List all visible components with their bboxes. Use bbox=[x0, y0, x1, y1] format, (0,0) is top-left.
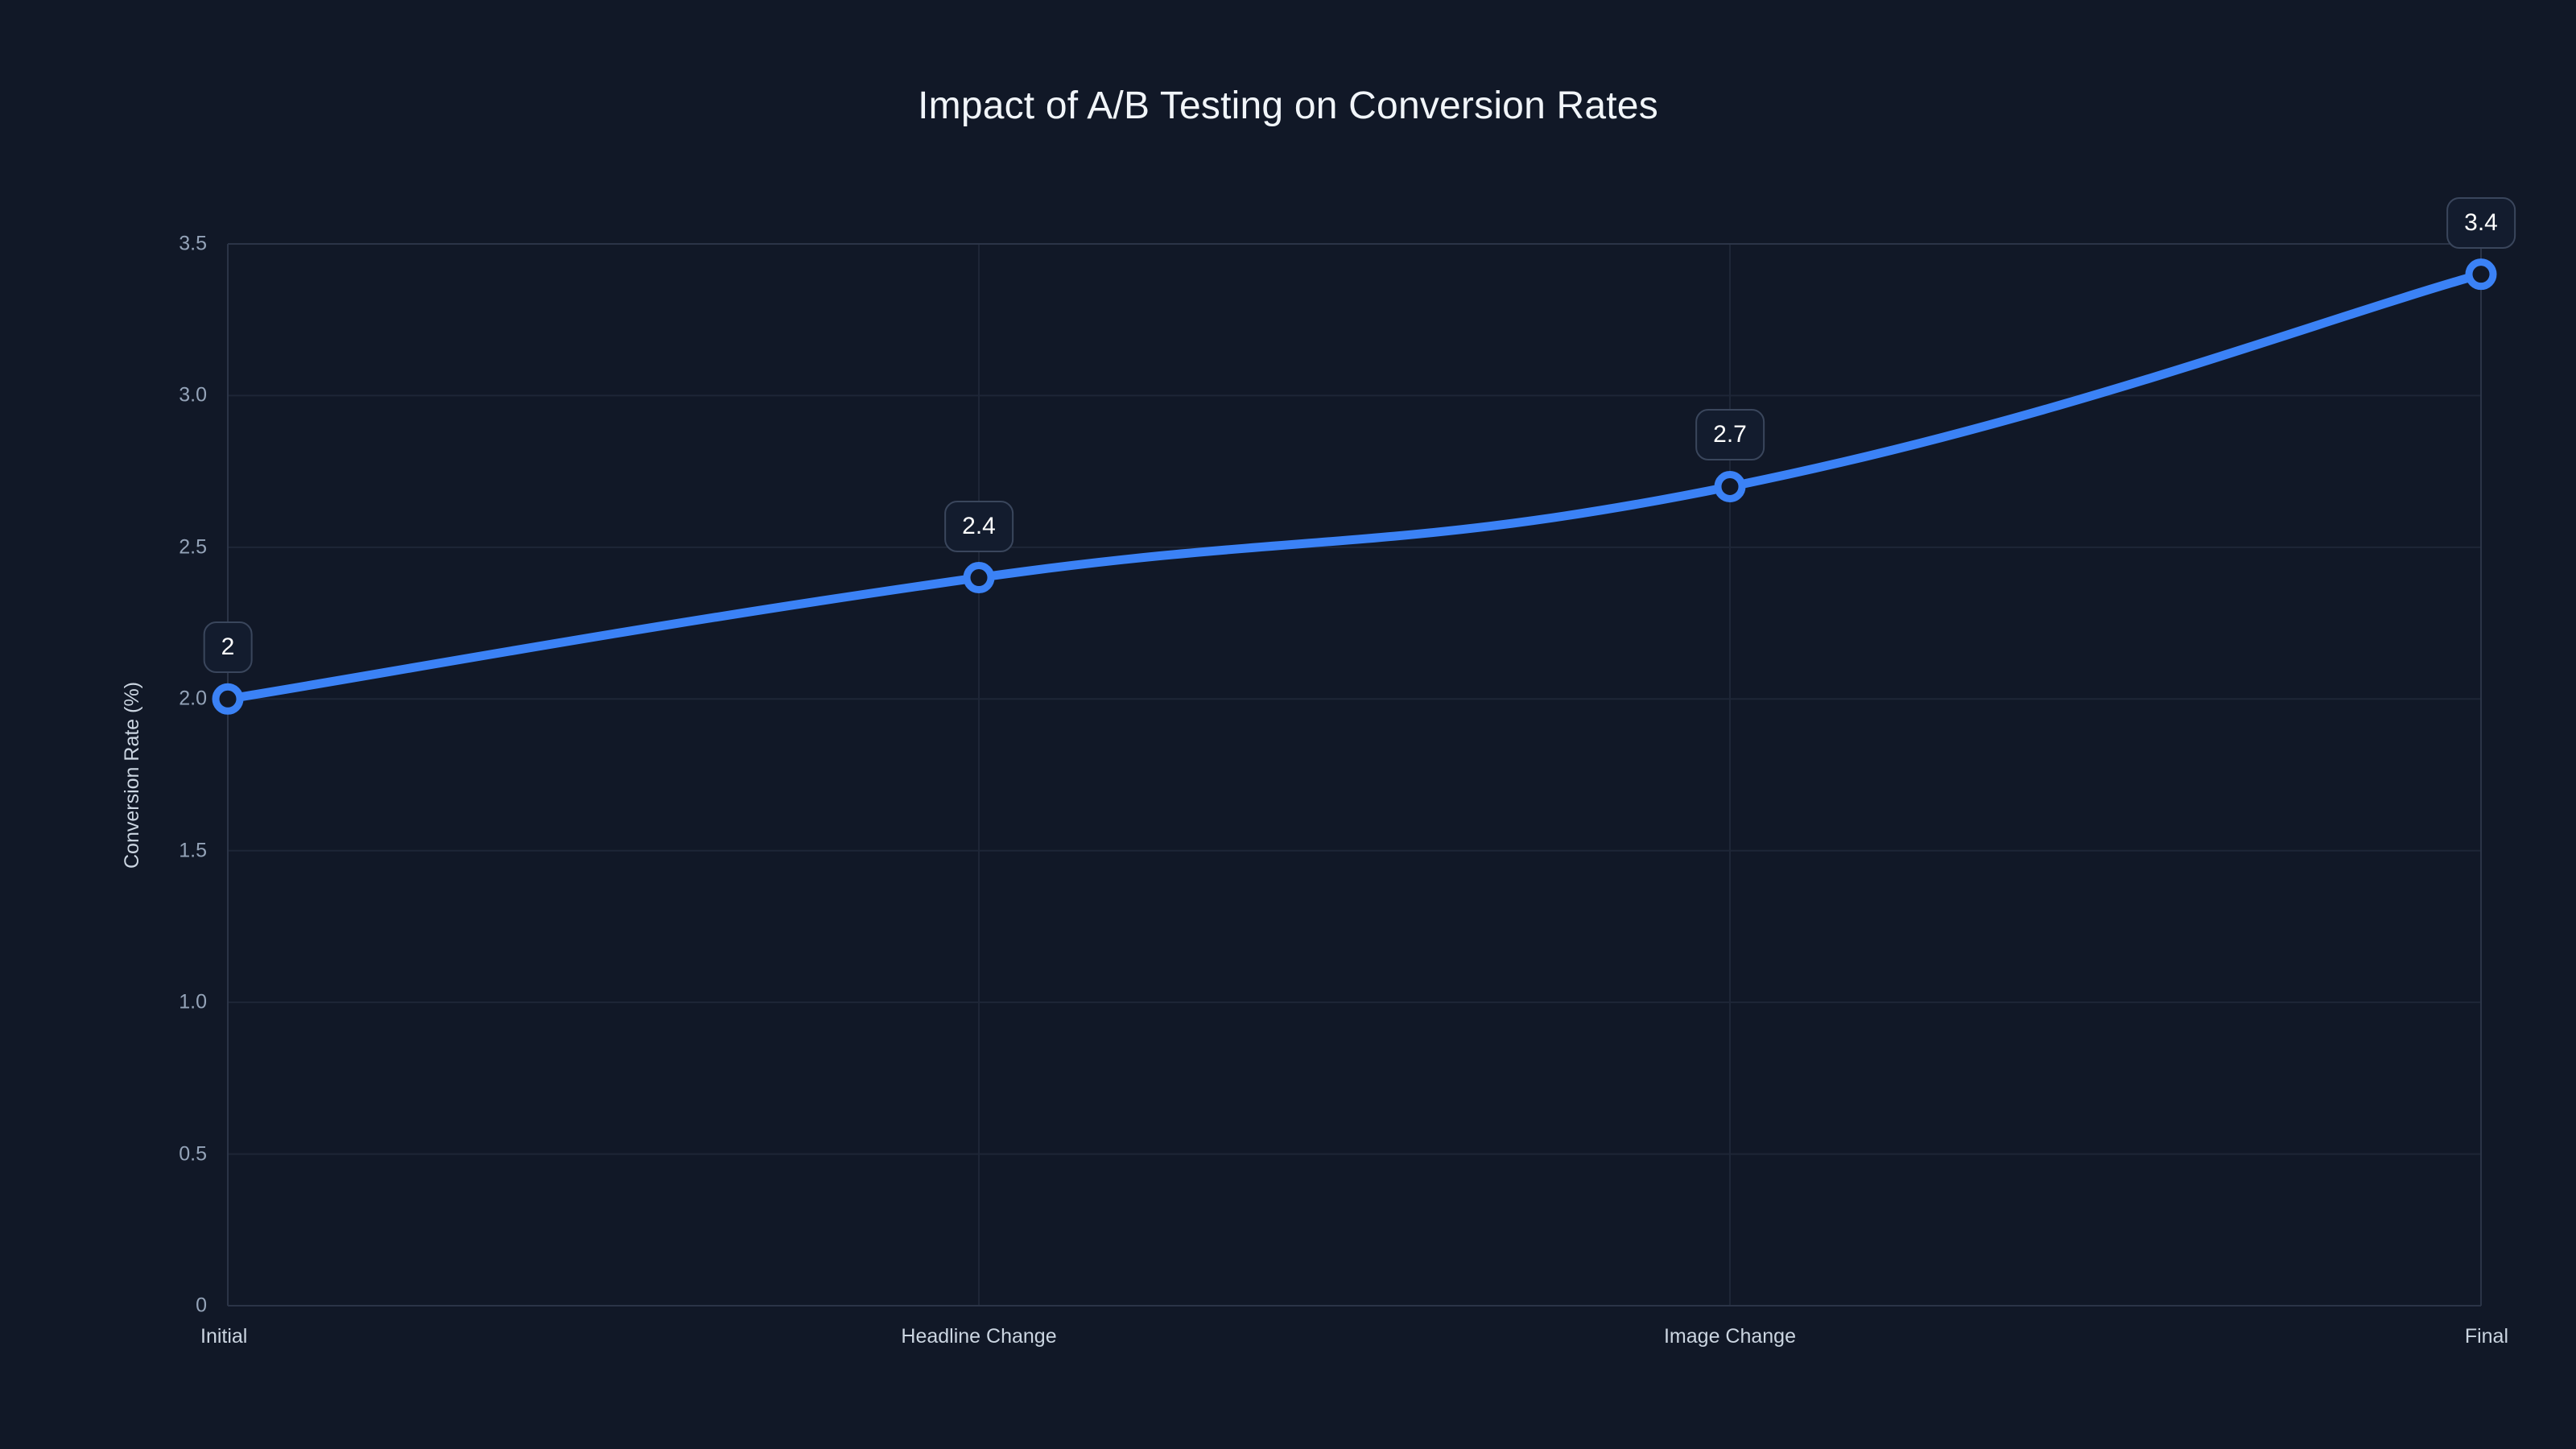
y-axis-tick-label: 2.0 bbox=[179, 689, 207, 709]
y-axis-tick-label: 3.5 bbox=[179, 234, 207, 254]
x-axis-tick-label: Image Change bbox=[1664, 1327, 1796, 1347]
x-axis-tick-label: Initial bbox=[200, 1327, 247, 1347]
data-point-value-label: 2 bbox=[204, 621, 253, 673]
line-series-conversion-rate bbox=[228, 275, 2481, 700]
data-point-value-label: 2.4 bbox=[944, 501, 1013, 552]
chart-container: Impact of A/B Testing on Conversion Rate… bbox=[0, 0, 2576, 1449]
plot-canvas bbox=[0, 0, 2576, 1449]
data-point-value-label: 3.4 bbox=[2446, 197, 2516, 249]
x-axis-tick-label: Headline Change bbox=[901, 1327, 1056, 1347]
y-axis-tick-label: 0 bbox=[196, 1296, 207, 1316]
axis-lines bbox=[228, 244, 2481, 1306]
y-axis-tick-label: 3.0 bbox=[179, 386, 207, 406]
y-axis-tick-label: 1.5 bbox=[179, 840, 207, 861]
x-axis-tick-label: Final bbox=[2465, 1327, 2508, 1347]
y-axis-tick-label: 2.5 bbox=[179, 537, 207, 557]
grid-lines bbox=[228, 244, 2481, 1306]
data-point-value-label: 2.7 bbox=[1695, 409, 1765, 460]
y-axis-tick-label: 0.5 bbox=[179, 1144, 207, 1164]
y-axis-tick-label: 1.0 bbox=[179, 993, 207, 1013]
